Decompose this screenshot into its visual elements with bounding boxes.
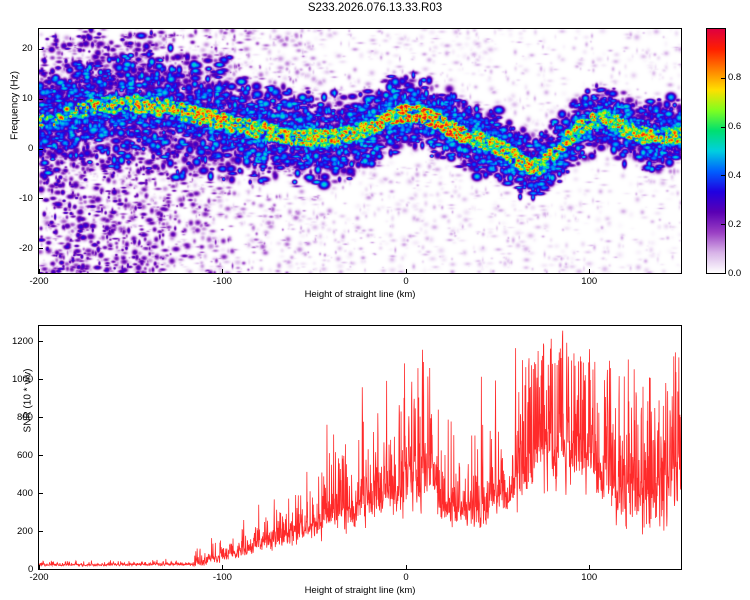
- tick-label: -100: [213, 572, 232, 583]
- tick-mark: [589, 269, 590, 273]
- tick-label: 20: [22, 43, 33, 54]
- tick-label: 0.0: [728, 268, 741, 279]
- tick-label: 0: [403, 572, 408, 583]
- tick-mark: [222, 269, 223, 273]
- colorbar: [706, 28, 726, 274]
- tick-label: 1200: [12, 336, 33, 347]
- spectrogram-canvas: [39, 29, 681, 273]
- tick-label: -20: [19, 243, 33, 254]
- tick-label: 0.6: [728, 121, 741, 132]
- tick-mark: [589, 565, 590, 569]
- tick-label: 0: [28, 564, 33, 575]
- snr-trace: [39, 326, 681, 569]
- tick-mark: [406, 269, 407, 273]
- tick-mark: [39, 417, 43, 418]
- colorbar-gradient: [707, 29, 725, 273]
- tick-label: 800: [17, 412, 33, 423]
- tick-mark: [39, 99, 43, 100]
- tick-mark: [39, 455, 43, 456]
- tick-label: 200: [17, 526, 33, 537]
- snr-x-axis-label: Height of straight line (km): [38, 585, 682, 596]
- tick-mark: [39, 198, 43, 199]
- tick-label: -200: [30, 276, 49, 287]
- tick-mark: [39, 379, 43, 380]
- tick-label: 400: [17, 488, 33, 499]
- tick-label: 0: [28, 143, 33, 154]
- tick-mark: [406, 565, 407, 569]
- tick-mark: [39, 531, 43, 532]
- snr-line: [39, 331, 681, 566]
- tick-label: -100: [213, 276, 232, 287]
- tick-label: 0.8: [728, 72, 741, 83]
- tick-mark: [39, 269, 40, 273]
- tick-mark: [39, 569, 43, 570]
- spectrogram-x-axis-label: Height of straight line (km): [38, 289, 682, 300]
- tick-label: 600: [17, 450, 33, 461]
- tick-label: 100: [581, 572, 597, 583]
- tick-label: 0: [403, 276, 408, 287]
- tick-mark: [721, 273, 725, 274]
- tick-mark: [721, 127, 725, 128]
- tick-mark: [39, 493, 43, 494]
- tick-mark: [39, 149, 43, 150]
- tick-mark: [721, 224, 725, 225]
- page-title: S233.2026.076.13.33.R03: [0, 2, 750, 14]
- spectrogram-y-axis-label: Frequency (Hz): [10, 36, 21, 176]
- tick-label: 0.2: [728, 219, 741, 230]
- figure-root: S233.2026.076.13.33.R03 Frequency (Hz) H…: [0, 0, 750, 600]
- tick-mark: [39, 341, 43, 342]
- tick-label: 100: [581, 276, 597, 287]
- spectrogram-plot-area: [38, 28, 682, 274]
- tick-label: 10: [22, 93, 33, 104]
- tick-mark: [39, 49, 43, 50]
- snr-plot-area: [38, 325, 682, 570]
- tick-label: -10: [19, 193, 33, 204]
- tick-mark: [222, 565, 223, 569]
- tick-mark: [39, 248, 43, 249]
- tick-label: 0.4: [728, 170, 741, 181]
- tick-mark: [721, 78, 725, 79]
- tick-mark: [721, 175, 725, 176]
- tick-label: 1000: [12, 374, 33, 385]
